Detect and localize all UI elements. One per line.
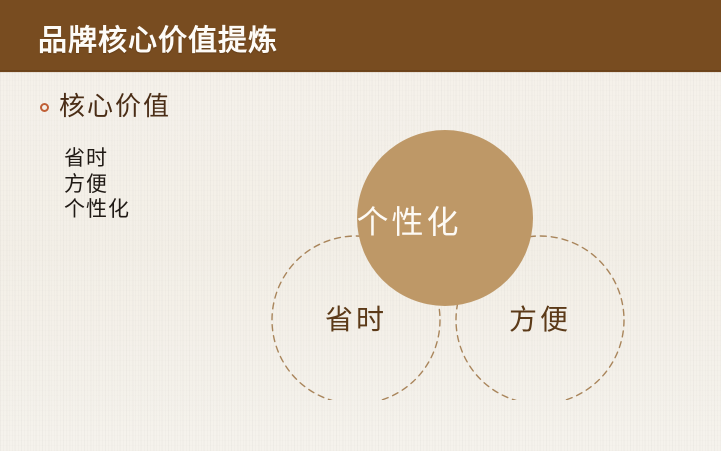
list-item: 方便: [64, 172, 130, 198]
core-value-list: 省时 方便 个性化: [64, 146, 130, 223]
venn-label-gexinghua: 个性化: [298, 206, 520, 238]
title-bar-shadow: [0, 70, 721, 73]
bullet-heading-label: 核心价值: [59, 94, 171, 120]
page-title: 品牌核心价值提炼: [38, 17, 278, 59]
slide: 品牌核心价值提炼 核心价值 省时 方便 个性化 个性化 省时 方便: [0, 0, 721, 451]
venn-diagram-shapes: [262, 120, 634, 400]
venn-label-shengshi: 省时: [284, 306, 428, 334]
hollow-circle-bullet-icon: [40, 103, 49, 112]
list-item: 省时: [64, 146, 130, 172]
bullet-heading: 核心价值: [40, 94, 171, 120]
venn-diagram: 个性化 省时 方便: [262, 120, 634, 400]
venn-label-fangbian: 方便: [468, 306, 612, 334]
list-item: 个性化: [64, 197, 130, 223]
